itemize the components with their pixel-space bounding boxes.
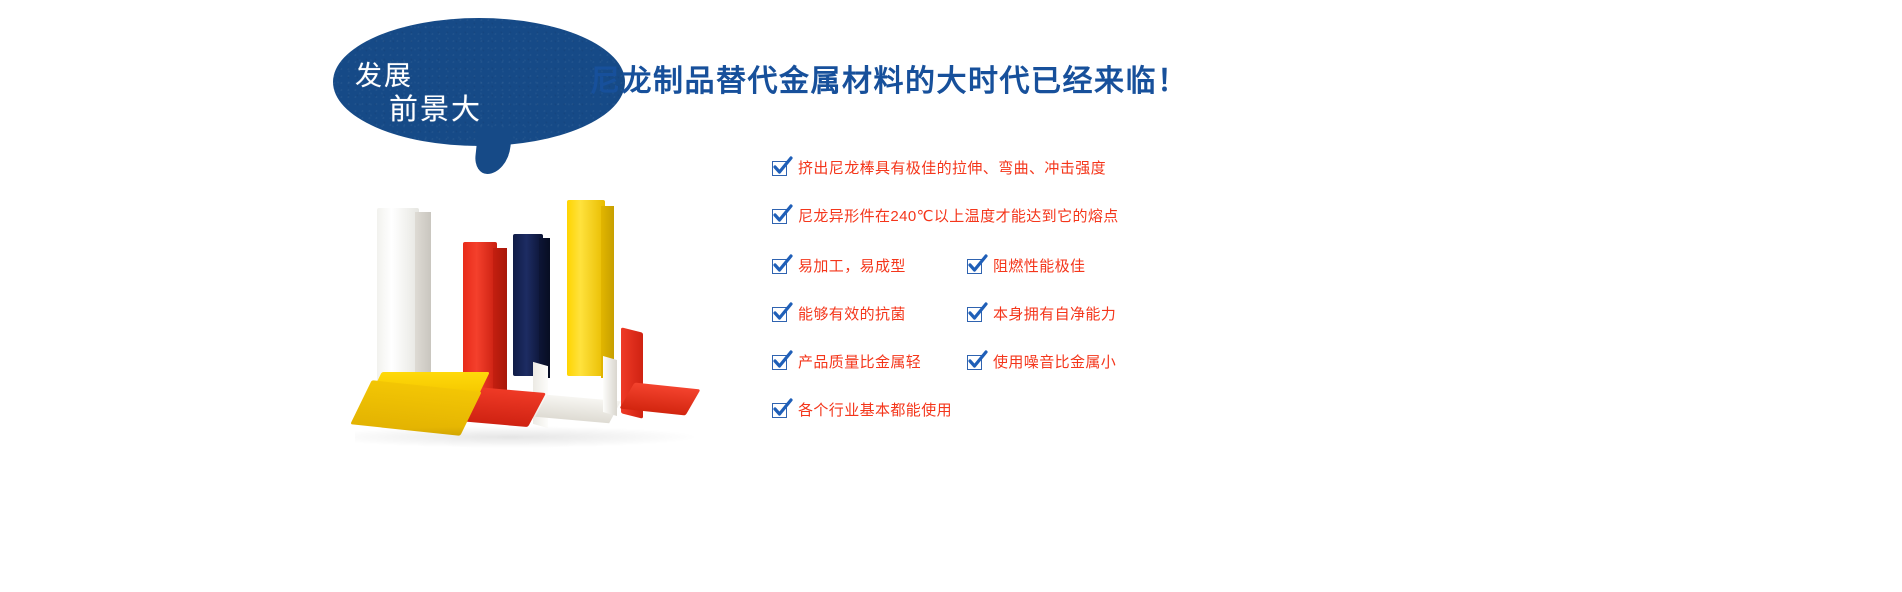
feature-row: 各个行业基本都能使用: [772, 403, 952, 418]
check-box-icon: [772, 161, 787, 176]
feature-row: 易加工，易成型: [772, 259, 906, 274]
feature-row: 产品质量比金属轻: [772, 355, 921, 370]
navy-tall-slab-side: [539, 238, 550, 378]
feature-label: 各个行业基本都能使用: [798, 403, 952, 418]
feature-row: 尼龙异形件在240℃以上温度才能达到它的熔点: [772, 209, 1119, 224]
list-item: 挤出尼龙棒具有极佳的拉伸、弯曲、冲击强度: [772, 161, 1106, 176]
feature-row: 使用噪音比金属小: [967, 355, 1116, 370]
check-box-icon: [967, 259, 982, 274]
product-photo: [355, 190, 700, 460]
speech-bubble: 发展 前景大: [333, 18, 625, 178]
page-title: 尼龙制品替代金属材料的大时代已经来临！: [590, 56, 1189, 100]
feature-label: 使用噪音比金属小: [993, 355, 1116, 370]
feature-row: 挤出尼龙棒具有极佳的拉伸、弯曲、冲击强度: [772, 161, 1106, 176]
feature-label: 阻燃性能极佳: [993, 259, 1085, 274]
yellow-tall-slab-side: [601, 206, 614, 378]
list-item: 使用噪音比金属小: [967, 355, 1116, 370]
yellow-tall-slab: [567, 200, 605, 376]
list-item: 能够有效的抗菌: [772, 307, 906, 322]
check-box-icon: [772, 355, 787, 370]
feature-row: 本身拥有自净能力: [967, 307, 1116, 322]
promo-banner: 发展 前景大 尼龙制品替代金属材料的大时代已经来临！ 挤出尼龙棒具有极: [0, 0, 1902, 592]
feature-label: 尼龙异形件在240℃以上温度才能达到它的熔点: [798, 209, 1119, 224]
feature-list: 挤出尼龙棒具有极佳的拉伸、弯曲、冲击强度 尼龙异形件在240℃以上温度才能达到它…: [772, 155, 1372, 445]
feature-label: 挤出尼龙棒具有极佳的拉伸、弯曲、冲击强度: [798, 161, 1106, 176]
list-item: 产品质量比金属轻: [772, 355, 921, 370]
list-item: 本身拥有自净能力: [967, 307, 1116, 322]
list-item: 尼龙异形件在240℃以上温度才能达到它的熔点: [772, 209, 1119, 224]
check-box-icon: [772, 403, 787, 418]
feature-label: 产品质量比金属轻: [798, 355, 921, 370]
white-u-channel-right: [603, 356, 617, 416]
photo-shadow: [355, 426, 700, 448]
feature-label: 能够有效的抗菌: [798, 307, 906, 322]
feature-label: 本身拥有自净能力: [993, 307, 1116, 322]
check-box-icon: [772, 209, 787, 224]
check-box-icon: [772, 307, 787, 322]
list-item: 阻燃性能极佳: [967, 259, 1085, 274]
list-item: 各个行业基本都能使用: [772, 403, 952, 418]
bubble-text-line-2: 前景大: [389, 86, 482, 128]
speech-bubble-tail: [474, 128, 513, 174]
check-box-icon: [967, 307, 982, 322]
feature-label: 易加工，易成型: [798, 259, 906, 274]
feature-row: 能够有效的抗菌: [772, 307, 906, 322]
feature-row: 阻燃性能极佳: [967, 259, 1085, 274]
check-box-icon: [967, 355, 982, 370]
list-item: 易加工，易成型: [772, 259, 906, 274]
check-box-icon: [772, 259, 787, 274]
